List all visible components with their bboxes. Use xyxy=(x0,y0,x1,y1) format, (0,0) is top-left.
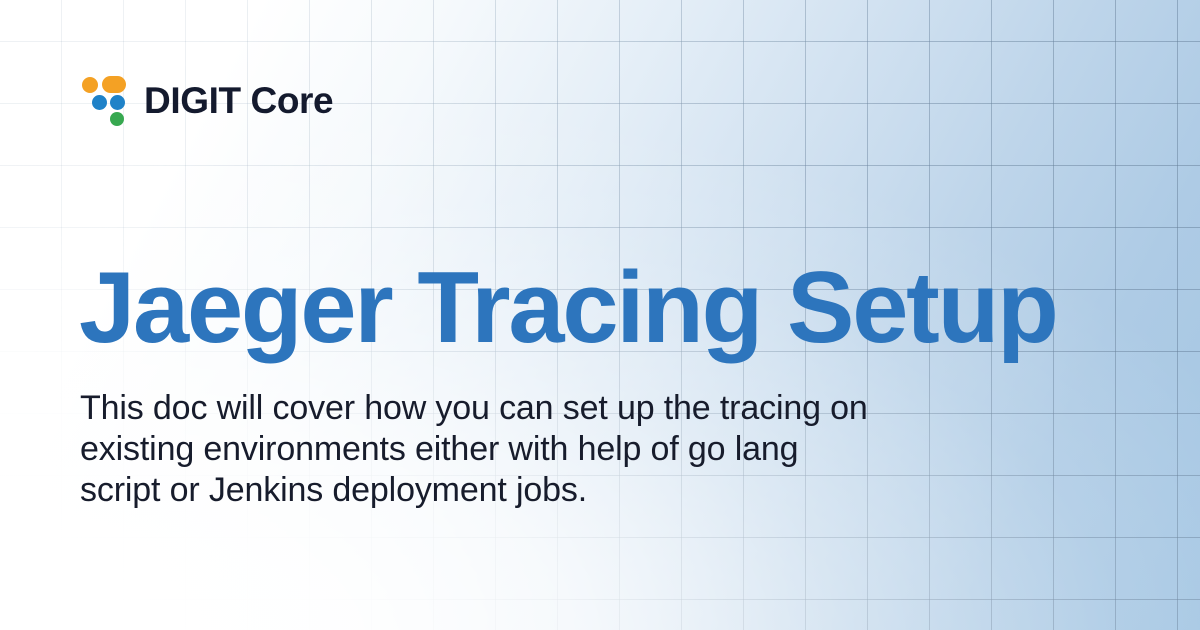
brand-lockup: DIGIT Core xyxy=(82,71,333,129)
logo-dot-blue-circle-right xyxy=(110,95,125,110)
logo-dot-orange-pill xyxy=(102,76,126,93)
digit-core-logo-icon xyxy=(82,74,126,126)
page-title: Jaeger Tracing Setup xyxy=(79,258,1057,359)
brand-name: DIGIT Core xyxy=(144,82,333,119)
hero-banner: DIGIT Core Jaeger Tracing Setup This doc… xyxy=(0,0,1200,630)
banner-content: DIGIT Core Jaeger Tracing Setup This doc… xyxy=(0,0,1200,630)
logo-dot-green-circle xyxy=(110,112,124,126)
logo-dot-orange-circle xyxy=(82,77,98,93)
page-subtitle: This doc will cover how you can set up t… xyxy=(80,388,870,511)
logo-dot-blue-circle-left xyxy=(92,95,107,110)
